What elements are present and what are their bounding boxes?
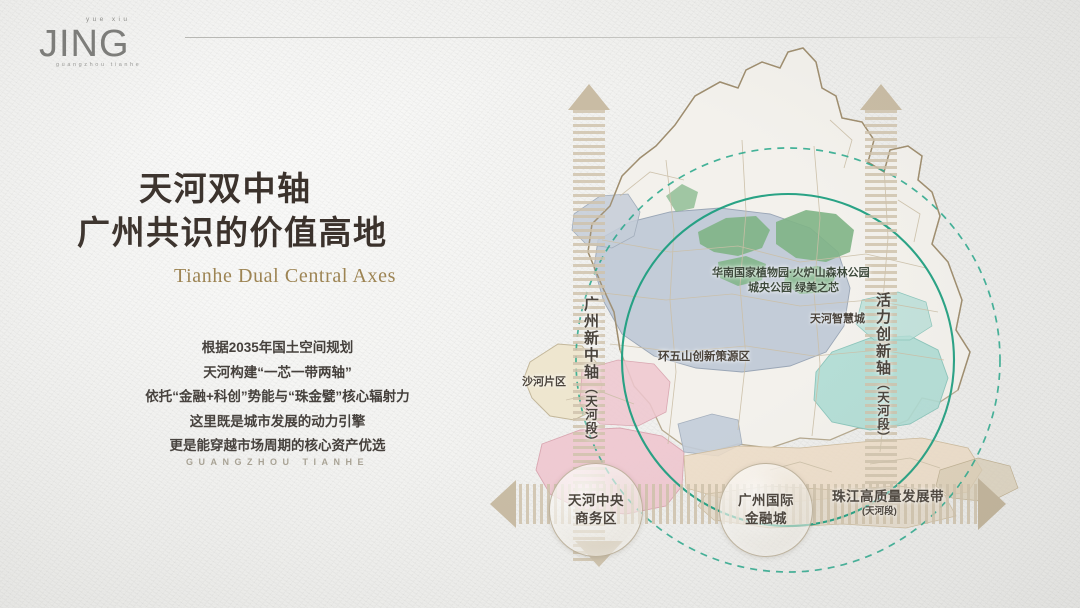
innovation-zone-label: 环五山创新策源区 [658,348,750,364]
page-subtitle: Tianhe Dual Central Axes [115,265,455,288]
body-line-4: 这里既是城市发展的动力引擎 [80,410,475,435]
badge-fin-line1: 广州国际 [738,493,794,508]
badge-financial-city-label: 广州国际 金融城 [738,492,794,528]
brand-pinyin-top: yue xiu [86,16,130,23]
headline-line-2: 广州共识的价值高地 [77,211,499,255]
badge-cbd-line1: 天河中央 [568,493,624,508]
park-label-line2: 城央公园 绿美之芯 [748,279,839,295]
badge-tianhe-cbd[interactable]: 天河中央 商务区 [549,463,643,557]
axis-left-label-sub: （天河段） [583,381,597,449]
axis-left-arrow-up [568,84,610,110]
brand-logo: yue xiu JING guangzhou tianhe [34,8,184,74]
page-title: 天河双中轴 广州共识的价值高地 [139,167,499,255]
body-line-5: 更是能穿越市场周期的核心资产优选 [80,434,475,459]
belt-label-sub: (天河段) [862,503,897,517]
belt-arrow-right [978,478,1006,530]
badge-cbd-line2: 商务区 [575,511,617,526]
footer-tagline: GUANGZHOU TIANHE [80,457,475,467]
badge-financial-city[interactable]: 广州国际 金融城 [719,463,813,557]
axis-right-label-sub: （天河段） [875,377,889,445]
axis-left-label-main: 广州新中轴 [582,296,599,381]
body-line-2: 天河构建“一芯一带两轴” [80,361,475,386]
brand-pinyin-bottom: guangzhou tianhe [56,62,141,68]
belt-arrow-left [490,480,516,528]
smart-city-label: 天河智慧城 [810,310,865,326]
park-label-line1: 华南国家植物园·火炉山森林公园 [712,264,870,280]
brand-wordmark: JING [39,23,130,66]
headline-line-1: 天河双中轴 [139,170,312,207]
axis-right-label: 活力创新轴（天河段） [872,292,893,445]
axis-left-label: 广州新中轴（天河段） [580,296,601,449]
body-line-3: 依托“金融+科创”势能与“珠金甓”核心辐射力 [80,385,475,410]
body-line-1: 根据2035年国土空间规划 [80,336,475,361]
body-copy: 根据2035年国土空间规划 天河构建“一芯一带两轴” 依托“金融+科创”势能与“… [80,336,475,459]
belt-label: 珠江高质量发展带 [832,485,944,505]
badge-tianhe-cbd-label: 天河中央 商务区 [568,492,624,528]
map-panel: 广州新中轴（天河段） 活力创新轴（天河段） 珠江高质量发展带 (天河段) 天河中… [470,0,1080,608]
shahe-district-label: 沙河片区 [522,373,566,389]
slide-root: yue xiu JING guangzhou tianhe 天河双中轴 广州共识… [0,0,1080,608]
belt-label-main: 珠江高质量发展带 [832,489,944,504]
axis-right-label-main: 活力创新轴 [874,292,891,377]
badge-fin-line2: 金融城 [745,511,787,526]
axis-right-arrow-up [860,84,902,110]
